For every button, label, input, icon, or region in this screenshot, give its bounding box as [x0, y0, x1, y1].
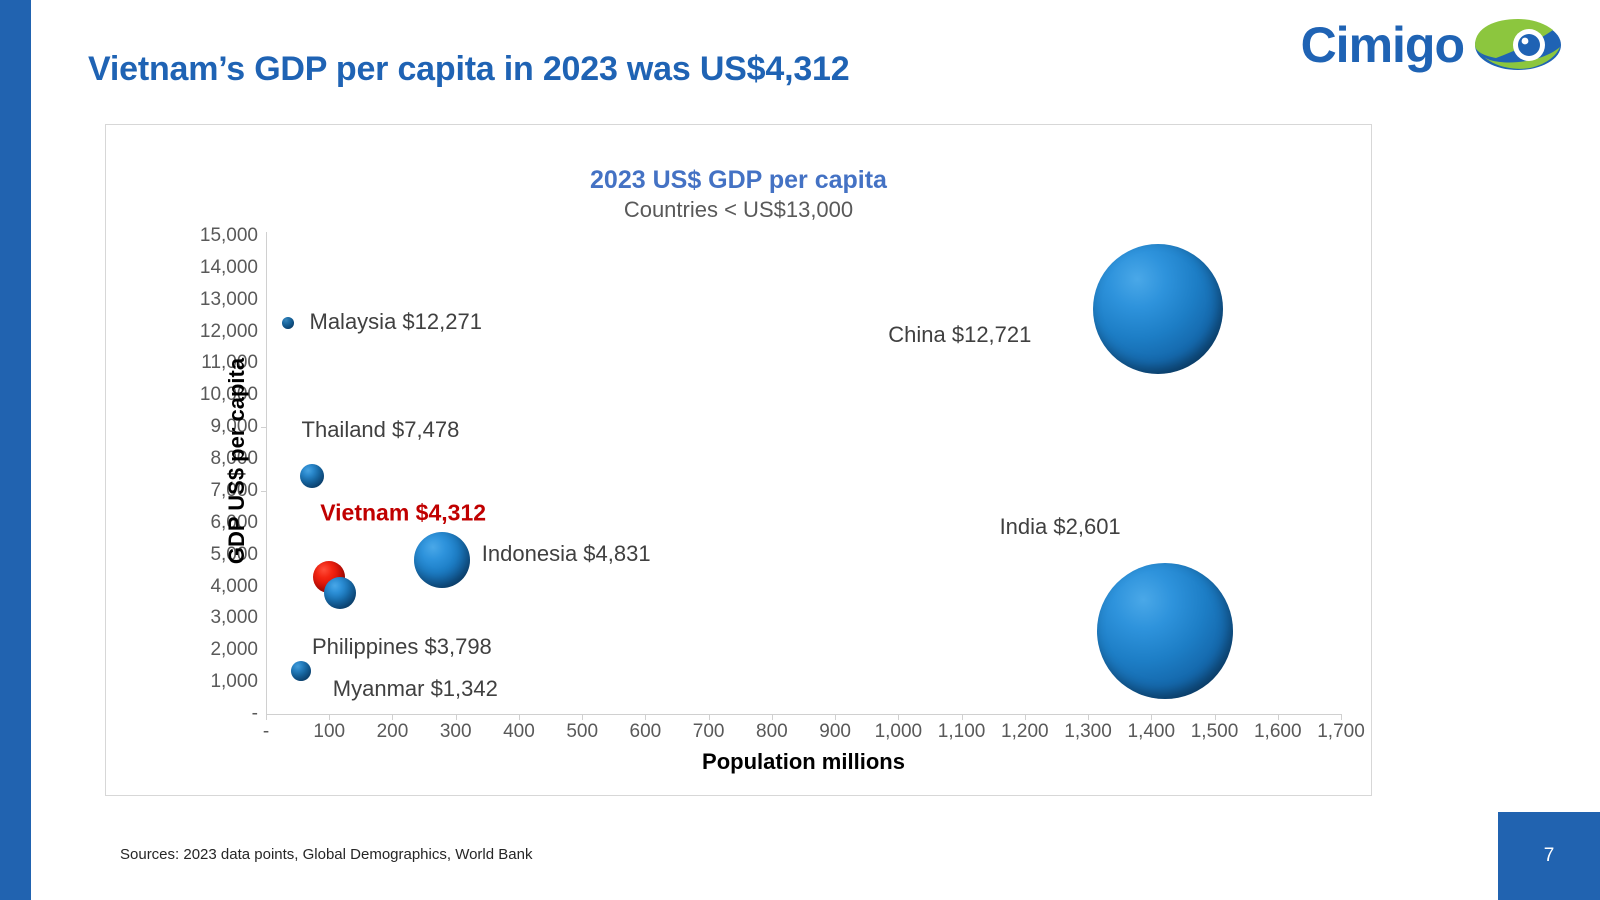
y-tick-label: 3,000 — [168, 607, 258, 629]
y-tick-label: 2,000 — [168, 639, 258, 661]
point-label-indonesia: Indonesia $4,831 — [482, 541, 651, 567]
left-accent-bar — [0, 0, 31, 900]
x-tick-mark — [709, 714, 710, 720]
x-tick-mark — [329, 714, 330, 720]
bubble-indonesia[interactable] — [414, 532, 470, 588]
x-tick-mark — [582, 714, 583, 720]
page-number-badge: 7 — [1498, 812, 1600, 900]
x-tick-mark — [772, 714, 773, 720]
bubble-thailand[interactable] — [300, 464, 324, 488]
point-label-india: India $2,601 — [1000, 514, 1121, 540]
x-tick-mark — [898, 714, 899, 720]
point-label-myanmar: Myanmar $1,342 — [333, 676, 498, 702]
x-axis-line — [266, 714, 1341, 715]
point-label-malaysia: Malaysia $12,271 — [310, 309, 482, 335]
y-axis-title: GDP US$ per capita — [224, 358, 250, 564]
x-tick-mark — [1278, 714, 1279, 720]
x-tick-mark — [1215, 714, 1216, 720]
point-label-china: China $12,721 — [888, 322, 1031, 348]
x-tick-label: 1,700 — [1301, 721, 1381, 743]
y-tick-label: 14,000 — [168, 257, 258, 279]
bubble-myanmar[interactable] — [291, 661, 311, 681]
bubble-malaysia[interactable] — [282, 317, 294, 329]
y-axis-line — [266, 232, 267, 714]
x-tick-mark — [456, 714, 457, 720]
cimigo-logo: Cimigo — [1301, 18, 1562, 72]
bubble-china[interactable] — [1093, 244, 1223, 374]
x-tick-mark — [392, 714, 393, 720]
y-tick-label: 12,000 — [168, 321, 258, 343]
source-note: Sources: 2023 data points, Global Demogr… — [120, 846, 532, 863]
x-tick-mark — [1341, 714, 1342, 720]
point-label-philippines: Philippines $3,798 — [312, 634, 492, 660]
y-tick-label: 1,000 — [168, 671, 258, 693]
slide: Cimigo Vietnam’s GDP per capita in 2023 … — [0, 0, 1600, 900]
x-axis-title: Population millions — [266, 749, 1341, 775]
logo-wordmark: Cimigo — [1301, 20, 1464, 70]
x-tick-mark — [835, 714, 836, 720]
y-tick-mark — [261, 491, 266, 492]
page-title: Vietnam’s GDP per capita in 2023 was US$… — [88, 50, 849, 89]
y-tick-label: 15,000 — [168, 225, 258, 247]
x-tick-mark — [1088, 714, 1089, 720]
x-tick-mark — [266, 714, 267, 720]
y-tick-label: 4,000 — [168, 576, 258, 598]
point-label-vietnam: Vietnam $4,312 — [320, 499, 486, 526]
y-tick-label: 13,000 — [168, 289, 258, 311]
scatter-plot: 15,00014,00013,00012,00011,00010,0009,00… — [106, 125, 1373, 797]
point-label-thailand: Thailand $7,478 — [302, 417, 460, 443]
x-tick-mark — [962, 714, 963, 720]
chart-panel: 2023 US$ GDP per capita Countries < US$1… — [105, 124, 1372, 796]
x-tick-mark — [519, 714, 520, 720]
bubble-india[interactable] — [1097, 563, 1233, 699]
x-tick-mark — [645, 714, 646, 720]
y-tick-mark — [261, 427, 266, 428]
cimigo-eye-icon — [1474, 18, 1562, 72]
bubble-philippines[interactable] — [324, 577, 356, 609]
x-tick-mark — [1151, 714, 1152, 720]
x-tick-mark — [1025, 714, 1026, 720]
